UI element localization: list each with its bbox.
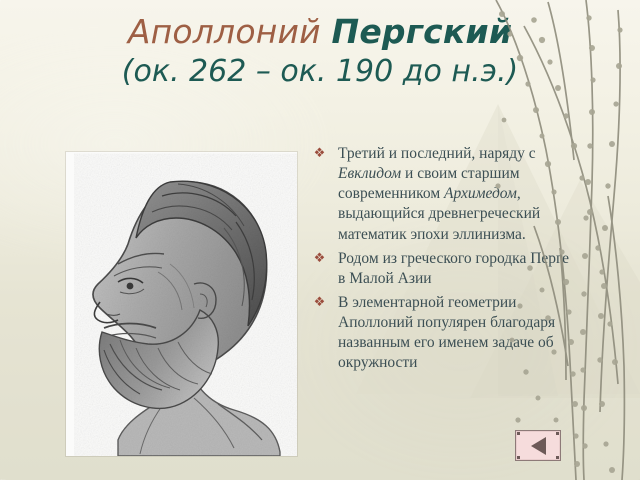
list-item-text: В элементарной геометрии Аполлоний попул… (338, 294, 555, 371)
list-item: ❖ В элементарной геометрии Аполлоний поп… (312, 293, 580, 374)
list-item: ❖ Родом из греческого городка Перге в Ма… (312, 249, 580, 289)
diamond-bullet-icon: ❖ (313, 294, 326, 309)
title-surname: Пергский (332, 12, 513, 51)
button-corner-dot (556, 456, 559, 459)
button-corner-dot (517, 456, 520, 459)
portrait-engraving-icon (66, 152, 297, 456)
button-corner-dot (517, 432, 520, 435)
diamond-bullet-icon: ❖ (313, 250, 326, 265)
button-corner-dot (556, 432, 559, 435)
list-item: ❖ Третий и последний, наряду с Евклидом … (312, 144, 580, 245)
title-dates: (ок. 262 – ок. 190 до н.э.) (0, 55, 640, 89)
list-item-text: Третий и последний, наряду с Евклидом и … (338, 145, 540, 243)
page-title: Аполлоний Пергский (ок. 262 – ок. 190 до… (0, 14, 640, 89)
title-line-primary: Аполлоний Пергский (0, 14, 640, 51)
list-item-text: Родом из греческого городка Перге в Мало… (338, 250, 569, 287)
title-first-name: Аполлоний (128, 12, 321, 51)
diamond-bullet-icon: ❖ (313, 145, 326, 160)
portrait-image (66, 152, 297, 456)
back-arrow-icon (531, 437, 546, 455)
back-button[interactable] (515, 430, 561, 461)
bullet-list: ❖ Третий и последний, наряду с Евклидом … (312, 144, 580, 378)
slide-canvas: Аполлоний Пергский (ок. 262 – ок. 190 до… (0, 0, 640, 480)
